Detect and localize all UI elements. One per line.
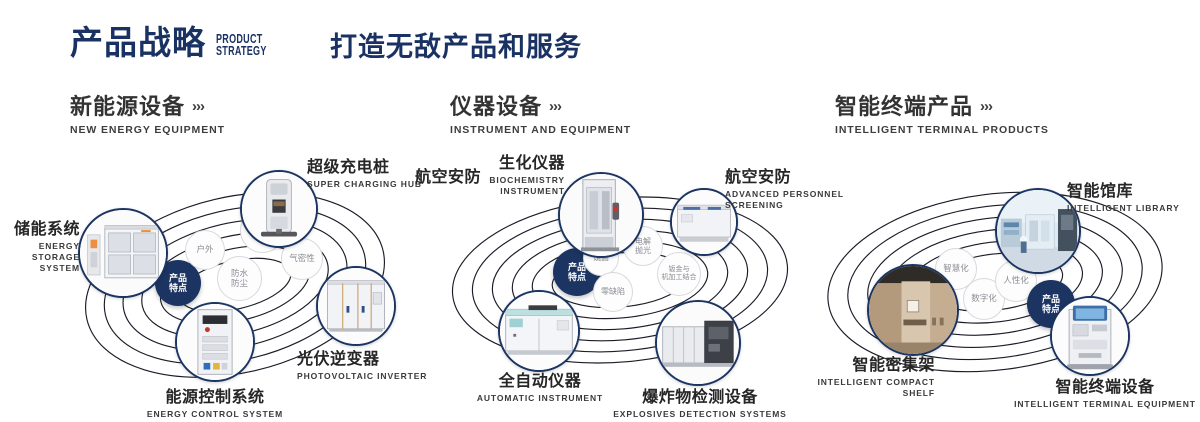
page-title-en: PRODUCT STRATEGY [216,33,267,57]
label-en: INTELLIGENT LIBRARY [1067,203,1200,214]
terminal-kiosk-photo [1052,298,1128,374]
page-title-cn: 产品战略 [70,26,206,59]
chevron-right-icon: ››› [980,94,992,120]
feature-bubble-outdoor[interactable]: 户外 [185,230,225,270]
page-title: 产品战略 PRODUCT STRATEGY [70,26,286,59]
label-en: AUTOMATIC INSTRUMENT [450,393,630,404]
compact-shelf-photo [869,266,957,354]
label-cn: 智能终端设备 [1005,378,1200,397]
feature-bubble-waterproof[interactable]: 防水 防尘 [217,256,262,301]
label-cn: 智能密集架 [765,356,935,375]
feature-bubble-zero-defect[interactable]: 零缺陷 [593,272,633,312]
label-en: EXPLOSIVES DETECTION SYSTEMS [605,409,795,420]
energy-control-system-photo [177,304,253,380]
section-title-en: INTELLIGENT TERMINAL PRODUCTS [835,124,1049,136]
node-explosives-detection[interactable] [655,300,741,386]
photovoltaic-inverter-photo [318,268,394,344]
section-header-new-energy: 新能源设备››› NEW ENERGY EQUIPMENT [70,94,225,136]
node-energy-storage[interactable] [78,208,168,298]
label-cn: 全自动仪器 [450,372,630,391]
feature-bubble-sheetmetal-machining[interactable]: 钣金与 机加工结合 [657,252,701,296]
chevron-right-icon: ››› [192,94,204,120]
label-compact-shelf: 智能密集架 INTELLIGENT COMPACT SHELF [765,356,935,399]
node-terminal-kiosk[interactable] [1050,296,1130,376]
node-automatic-instrument[interactable] [498,290,580,372]
page-subtitle: 打造无敌产品和服务 [330,34,582,61]
section-title-text: 仪器设备 [450,94,542,119]
automatic-instrument-photo [500,292,578,370]
section-header-intelligent-terminal: 智能终端产品››› INTELLIGENT TERMINAL PRODUCTS [835,94,1049,136]
section-title-text: 智能终端产品 [835,94,973,119]
node-compact-shelf[interactable] [867,264,959,356]
energy-storage-cabinet-photo [80,210,166,296]
section-title-cn: 仪器设备››› [450,94,631,120]
label-en: ENERGY STORAGE SYSTEM [0,241,80,274]
orbit-diagram-new-energy: 产品 特点 户外 防腐 防锈 防水 防尘 气密性 [45,160,445,410]
section-title-en: INSTRUMENT AND EQUIPMENT [450,124,631,136]
label-en: INTELLIGENT COMPACT SHELF [765,377,935,399]
label-cn: 智能馆库 [1067,182,1200,201]
label-intelligent-library: 智能馆库 INTELLIGENT LIBRARY [1067,182,1200,214]
label-energy-storage: 储能系统 ENERGY STORAGE SYSTEM [0,220,80,274]
super-charging-hub-photo [242,172,316,246]
label-energy-control-system: 能源控制系统 ENERGY CONTROL SYSTEM [90,388,340,420]
label-automatic-instrument: 全自动仪器 AUTOMATIC INSTRUMENT [450,372,630,404]
node-energy-control-system[interactable] [175,302,255,382]
label-en: INTELLIGENT TERMINAL EQUIPMENT [1005,399,1200,410]
section-title-en: NEW ENERGY EQUIPMENT [70,124,225,136]
label-cn: 生化仪器 [465,154,565,173]
section-title-text: 新能源设备 [70,94,185,119]
section-title-cn: 新能源设备››› [70,94,225,120]
label-en: ENERGY CONTROL SYSTEM [90,409,340,420]
label-biochemistry-instrument: 生化仪器 BIOCHEMISTRY INSTRUMENT [465,154,565,197]
explosives-detection-photo [657,302,739,384]
label-cn: 能源控制系统 [90,388,340,407]
biochemistry-instrument-photo [560,174,642,256]
node-photovoltaic-inverter[interactable] [316,266,396,346]
chevron-right-icon: ››› [549,94,561,120]
section-header-instrument: 仪器设备››› INSTRUMENT AND EQUIPMENT [450,94,631,136]
label-en: BIOCHEMISTRY INSTRUMENT [465,175,565,197]
node-biochemistry-instrument[interactable] [558,172,644,258]
orbit-diagram-intelligent-terminal: 智慧化 数字化 人性化 产品 特点 [805,160,1200,410]
label-cn: 储能系统 [0,220,80,239]
label-terminal-kiosk: 智能终端设备 INTELLIGENT TERMINAL EQUIPMENT [1005,378,1200,410]
poster-canvas: 产品战略 PRODUCT STRATEGY 打造无敌产品和服务 新能源设备›››… [0,0,1200,422]
section-title-cn: 智能终端产品››› [835,94,1049,120]
